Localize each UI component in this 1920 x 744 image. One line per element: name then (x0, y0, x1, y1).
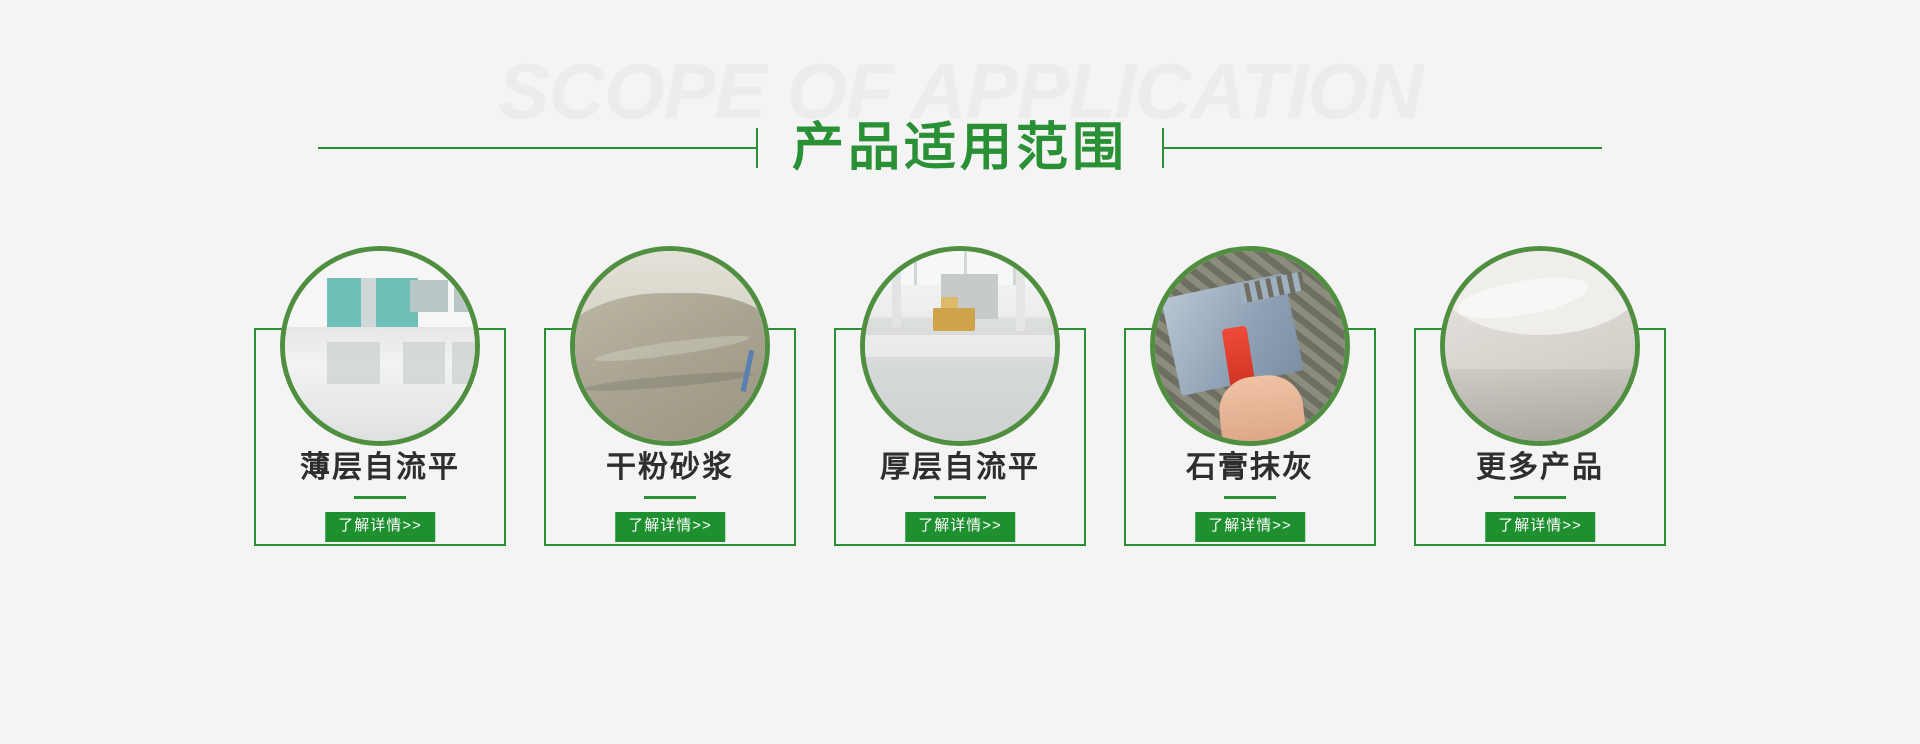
card-divider (934, 496, 986, 499)
thick-self-leveling-floor-photo (860, 246, 1060, 446)
card-label: 更多产品 (1414, 450, 1666, 486)
product-card-list: 薄层自流平 了解详情>> 干粉砂浆 了解详情>> (0, 246, 1920, 546)
card-label: 石膏抹灰 (1124, 450, 1376, 486)
learn-more-button[interactable]: 了解详情>> (615, 512, 725, 542)
title-rule-left (318, 118, 758, 178)
card-divider (354, 496, 406, 499)
page-title: 产品适用范围 (758, 122, 1162, 174)
more-products-photo (1440, 246, 1640, 446)
product-card[interactable]: 石膏抹灰 了解详情>> (1124, 246, 1376, 546)
epoxy-self-leveling-floor-photo (280, 246, 480, 446)
title-row: 产品适用范围 (0, 118, 1920, 178)
card-label: 厚层自流平 (834, 450, 1086, 486)
card-divider (644, 496, 696, 499)
learn-more-button[interactable]: 了解详情>> (1485, 512, 1595, 542)
product-card[interactable]: 薄层自流平 了解详情>> (254, 246, 506, 546)
learn-more-button[interactable]: 了解详情>> (905, 512, 1015, 542)
card-divider (1224, 496, 1276, 499)
card-label: 薄层自流平 (254, 450, 506, 486)
card-divider (1514, 496, 1566, 499)
title-rule-line-right (1164, 147, 1602, 149)
product-card[interactable]: 更多产品 了解详情>> (1414, 246, 1666, 546)
dry-powder-mortar-photo (570, 246, 770, 446)
product-card[interactable]: 干粉砂浆 了解详情>> (544, 246, 796, 546)
title-rule-line-left (318, 147, 756, 149)
gypsum-plaster-trowel-photo (1150, 246, 1350, 446)
learn-more-button[interactable]: 了解详情>> (325, 512, 435, 542)
product-card[interactable]: 厚层自流平 了解详情>> (834, 246, 1086, 546)
learn-more-button[interactable]: 了解详情>> (1195, 512, 1305, 542)
title-rule-right (1162, 118, 1602, 178)
card-label: 干粉砂浆 (544, 450, 796, 486)
section-header: SCOPE OF APPLICATION 产品适用范围 (0, 0, 1920, 230)
